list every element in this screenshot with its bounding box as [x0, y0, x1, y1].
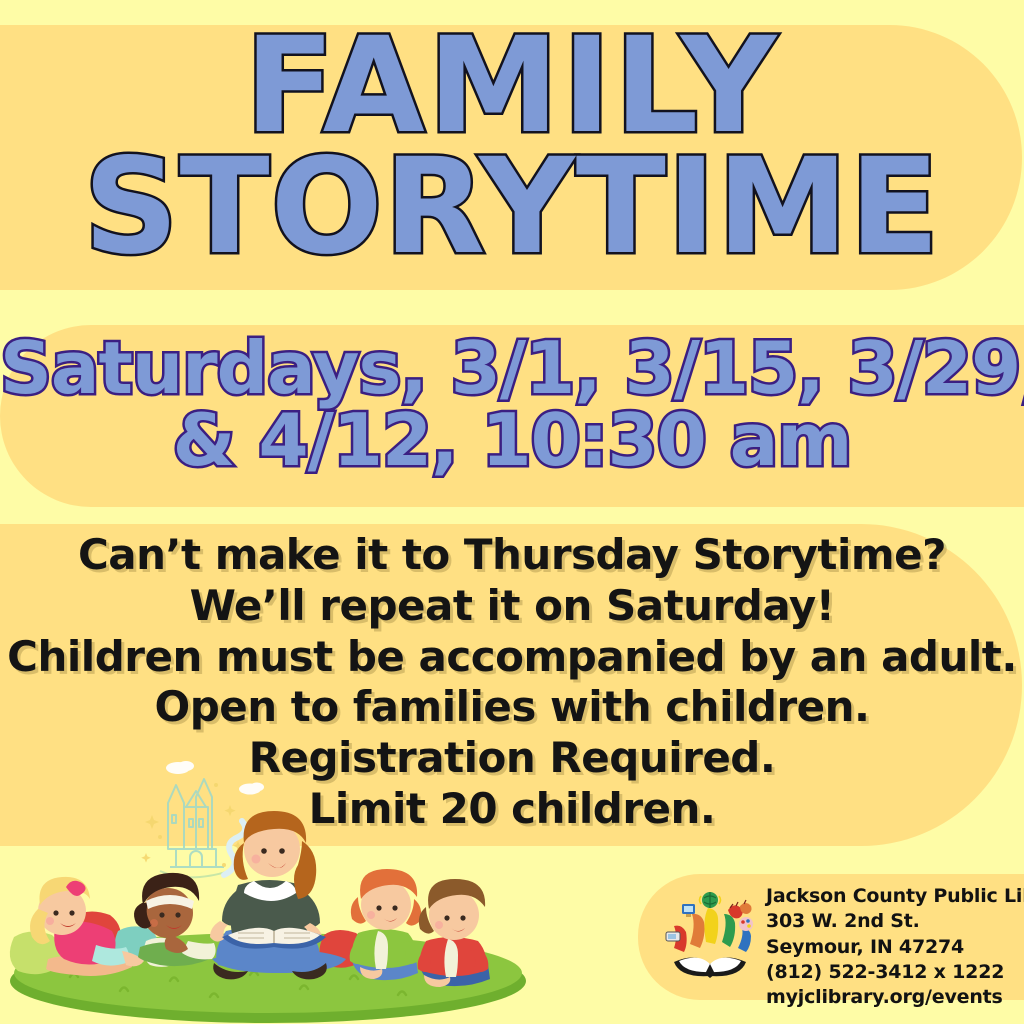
library-name: Jackson County Public Library: [766, 884, 1024, 909]
dates-line-1: Saturdays, 3/1, 3/15, 3/29,: [0, 332, 1024, 404]
child-boy-brown-hair-red-shirt: [418, 879, 490, 987]
poster-title: FAMILY STORYTIME: [0, 26, 1024, 269]
open-book-with-ribbons-logo: [660, 890, 760, 986]
ribbon-yellow: [704, 908, 718, 944]
ribbon-green: [722, 914, 735, 947]
poster-canvas: FAMILY STORYTIME Saturdays, 3/1, 3/15, 3…: [0, 0, 1024, 1024]
body-line-2: We’ll repeat it on Saturday!: [0, 581, 1024, 632]
library-contact-info: Jackson County Public Library 303 W. 2nd…: [766, 884, 1024, 1010]
library-website[interactable]: myjclibrary.org/events: [766, 985, 1024, 1010]
ribbon-blue: [738, 928, 751, 952]
globe-icon: [700, 892, 721, 908]
library-city: Seymour, IN 47274: [766, 935, 1024, 960]
title-line-storytime: STORYTIME: [0, 147, 1024, 268]
body-line-6: Limit 20 children.: [0, 784, 1024, 835]
title-line-family: FAMILY: [0, 26, 1024, 147]
body-line-3: Children must be accompanied by an adult…: [0, 632, 1024, 683]
smartphone-icon: [666, 932, 680, 941]
ribbon-orange: [690, 914, 705, 948]
child-boy-ginger-green-shirt: [350, 869, 421, 980]
body-line-5: Registration Required.: [0, 733, 1024, 784]
dates-line-2: & 4/12, 10:30 am: [0, 404, 1024, 476]
library-street: 303 W. 2nd St.: [766, 909, 1024, 934]
event-dates: Saturdays, 3/1, 3/15, 3/29, & 4/12, 10:3…: [0, 332, 1024, 476]
body-line-4: Open to families with children.: [0, 682, 1024, 733]
storyteller-reading-book: [210, 811, 346, 979]
paint-palette-icon: [739, 917, 753, 931]
body-line-1: Can’t make it to Thursday Storytime?: [0, 530, 1024, 581]
child-girl-with-headband: [134, 873, 216, 966]
theater-masks-icon: [728, 900, 752, 918]
library-phone: (812) 522-3412 x 1222: [766, 960, 1024, 985]
event-description: Can’t make it to Thursday Storytime? We’…: [0, 530, 1024, 835]
